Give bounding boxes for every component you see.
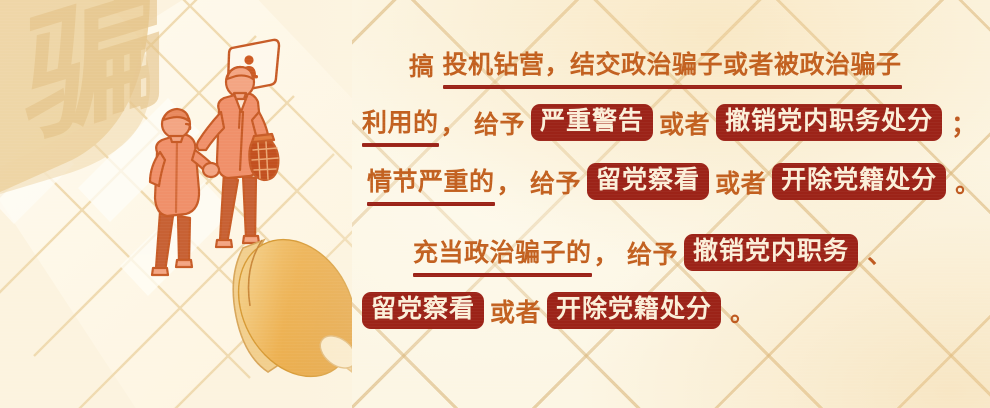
line2-or-word: 或者 <box>659 105 710 141</box>
line2-comma: ， <box>441 105 467 141</box>
line2-semicolon: ； <box>951 105 977 141</box>
line4-give-word: 给予 <box>627 235 678 271</box>
text-column: 搞 投机钻营，结交政治骗子或者被政治骗子 利用的 ， 给予 严重警告 或者 撤销… <box>352 0 990 408</box>
illustration-svg: 骗 <box>0 0 352 408</box>
penalty-tag-probation: 留党察看 <box>587 163 709 200</box>
clause-line-5: 留党察看 或者 开除党籍处分 。 <box>357 292 756 329</box>
line3-period: 。 <box>955 164 981 200</box>
clause-line-3: 情节严重的 ， 给予 留党察看 或者 开除党籍处分 。 <box>366 162 981 201</box>
penalty-tag-serious-warning: 严重警告 <box>531 104 653 141</box>
clause-line-1: 搞 投机钻营，结交政治骗子或者被政治骗子 <box>408 45 903 84</box>
line1-underlined-phrase: 投机钻营，结交政治骗子或者被政治骗子 <box>443 45 902 84</box>
line1-lead-word: 搞 <box>409 47 435 83</box>
penalty-tag-probation-2: 留党察看 <box>362 292 484 329</box>
penalty-tag-remove-party-post-2: 撤销党内职务 <box>684 234 858 271</box>
penalty-tag-remove-party-post: 撤销党内职务处分 <box>716 104 942 141</box>
line5-period: 。 <box>730 293 756 329</box>
penalty-tag-expulsion: 开除党籍处分 <box>772 163 946 200</box>
line2-underlined-phrase: 利用的 <box>362 103 439 142</box>
line4-underlined-phrase: 充当政治骗子的 <box>413 233 592 272</box>
illustration-panel: 骗 <box>0 0 352 408</box>
penalty-tag-expulsion-2: 开除党籍处分 <box>547 292 721 329</box>
line3-comma: ， <box>497 164 523 200</box>
line4-enumeration-comma: 、 <box>867 235 893 271</box>
line4-comma: ， <box>594 235 620 271</box>
line3-underlined-phrase: 情节严重的 <box>367 162 495 201</box>
banner-root: 骗 <box>0 0 990 408</box>
clause-line-4: 充当政治骗子的 ， 给予 撤销党内职务 、 <box>412 233 893 272</box>
line5-or-word: 或者 <box>490 293 541 329</box>
line3-or-word: 或者 <box>715 164 766 200</box>
money-bag <box>249 134 278 180</box>
clause-line-2: 利用的 ， 给予 严重警告 或者 撤销党内职务处分 ； <box>361 103 977 142</box>
line3-give-word: 给予 <box>530 164 581 200</box>
line2-give-word: 给予 <box>474 105 525 141</box>
